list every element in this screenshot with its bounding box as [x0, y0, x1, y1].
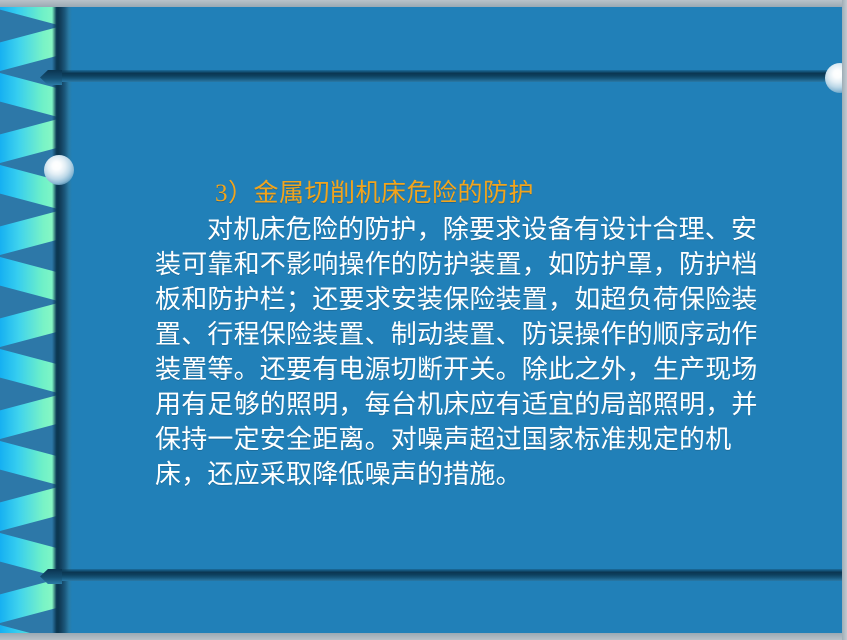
ribbon-segment	[0, 348, 58, 394]
ribbon-segment	[0, 578, 58, 624]
slide-content: 3）金属切削机床危险的防护 对机床危险的防护，除要求设备有设计合理、安装可靠和不…	[155, 178, 775, 492]
ribbon-segment	[0, 440, 58, 486]
zigzag-ribbon-decoration	[0, 0, 58, 640]
glow-orb-left-icon	[44, 155, 74, 185]
slide-heading: 3）金属切削机床危险的防护	[215, 178, 775, 210]
ribbon-segment	[0, 210, 58, 256]
ribbon-segment	[0, 26, 58, 72]
frame-edge-right	[842, 0, 847, 640]
frame-edge-bottom	[0, 633, 847, 640]
divider-line-top	[56, 73, 847, 82]
ribbon-segment	[0, 302, 58, 348]
ribbon-segment	[0, 486, 58, 532]
slide-body-text: 对机床危险的防护，除要求设备有设计合理、安装可靠和不影响操作的防护装置，如防护罩…	[155, 212, 775, 492]
divider-line-bottom	[56, 572, 847, 581]
slide-canvas: 3）金属切削机床危险的防护 对机床危险的防护，除要求设备有设计合理、安装可靠和不…	[0, 0, 847, 640]
ribbon-segment	[0, 256, 58, 302]
left-border-bar	[58, 0, 72, 640]
frame-edge-top	[0, 0, 847, 7]
ribbon-segment	[0, 394, 58, 440]
